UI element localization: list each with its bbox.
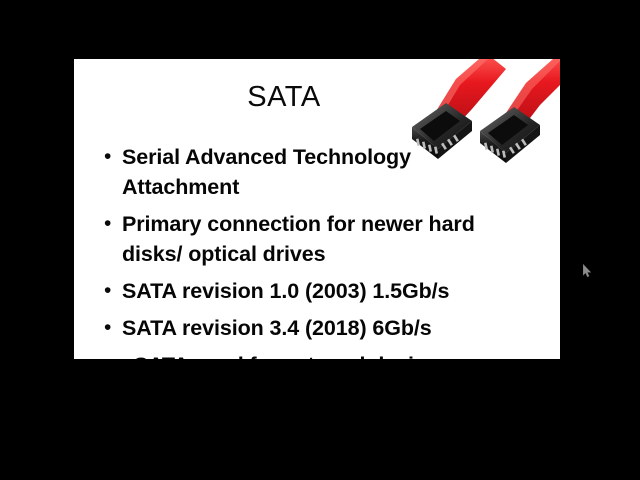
bullet-marker-icon: •: [104, 350, 122, 359]
list-item: • SATA revision 1.0 (2003) 1.5Gb/s: [104, 276, 524, 306]
bullet-list: • Serial Advanced Technology Attachment …: [104, 142, 524, 359]
video-player-stage: SATA • Serial Advanced Technology Attach…: [0, 0, 640, 480]
bullet-marker-icon: •: [104, 209, 122, 239]
list-item-label: Serial Advanced Technology Attachment: [122, 142, 411, 202]
list-item: • Primary connection for newer hard disk…: [104, 209, 524, 269]
list-item-label: SATA revision 1.0 (2003) 1.5Gb/s: [122, 276, 449, 306]
list-item-label: eSATA used for external devices: [122, 350, 449, 359]
list-item: • SATA revision 3.4 (2018) 6Gb/s: [104, 313, 524, 343]
list-item-label: SATA revision 3.4 (2018) 6Gb/s: [122, 313, 432, 343]
presentation-slide: SATA • Serial Advanced Technology Attach…: [74, 59, 560, 359]
list-item-label: Primary connection for newer hard disks/…: [122, 209, 475, 269]
bullet-marker-icon: •: [104, 142, 122, 172]
bullet-marker-icon: •: [104, 276, 122, 306]
page-title: SATA: [74, 83, 494, 112]
bullet-marker-icon: •: [104, 313, 122, 343]
mouse-pointer-icon: [583, 264, 592, 278]
list-item: • eSATA used for external devices: [104, 350, 524, 359]
list-item: • Serial Advanced Technology Attachment: [104, 142, 524, 202]
